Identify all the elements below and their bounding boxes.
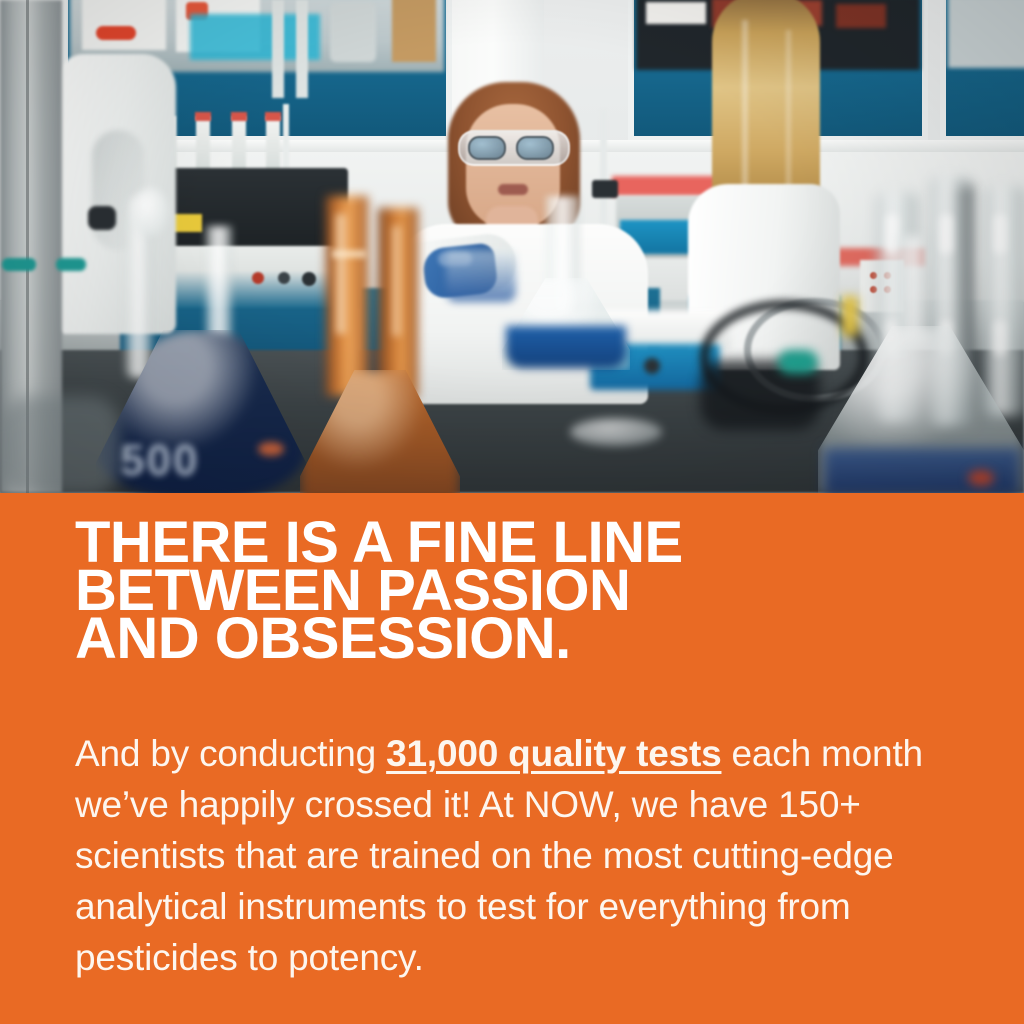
- social-media-card: 500 THERE IS A FINE LINE BETWEEN PASSION…: [0, 0, 1024, 1024]
- laboratory-photo: 500: [0, 0, 1024, 493]
- page-title: THERE IS A FINE LINE BETWEEN PASSION AND…: [75, 519, 975, 663]
- orange-text-panel: THERE IS A FINE LINE BETWEEN PASSION AND…: [0, 493, 1024, 1024]
- body-copy: And by conducting 31,000 quality tests e…: [75, 728, 955, 983]
- photo-vignette: [0, 0, 1024, 493]
- quality-tests-stat: 31,000 quality tests: [386, 733, 721, 774]
- body-copy-lead: And by conducting: [75, 733, 386, 774]
